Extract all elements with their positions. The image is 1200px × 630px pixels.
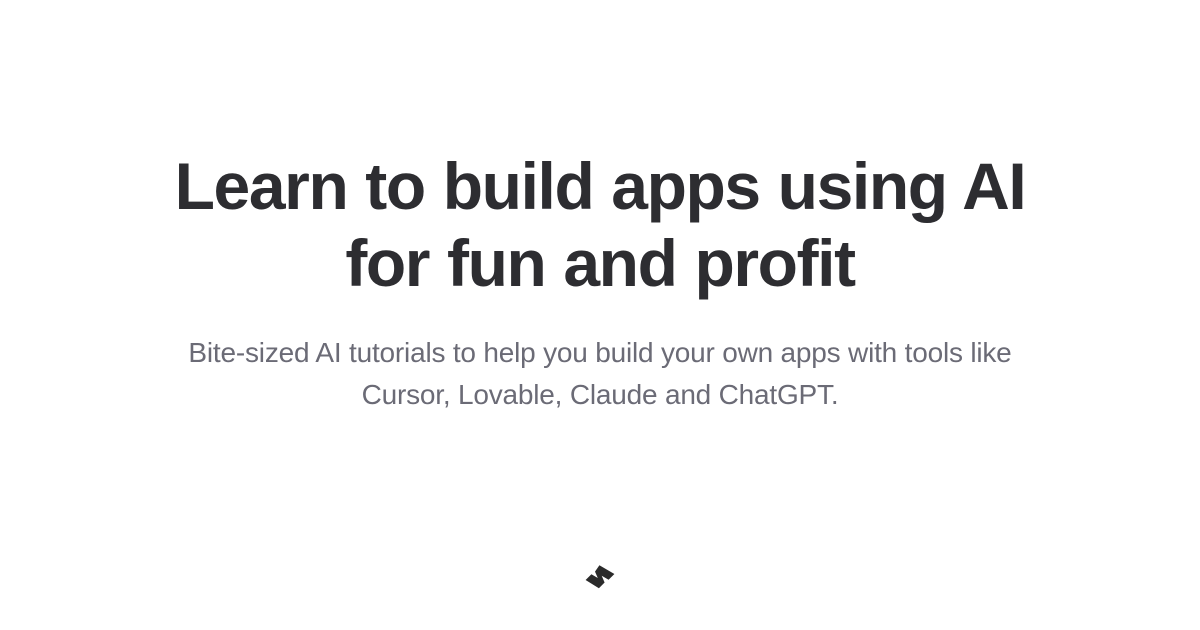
lightning-bolt-logo (584, 564, 616, 596)
open-graph-card: Learn to build apps using AI for fun and… (0, 0, 1200, 630)
content-stack: Learn to build apps using AI for fun and… (0, 0, 1200, 630)
page-title: Learn to build apps using AI for fun and… (170, 148, 1030, 302)
page-subtitle: Bite-sized AI tutorials to help you buil… (155, 332, 1045, 416)
lightning-bolt-glyph (586, 565, 615, 588)
